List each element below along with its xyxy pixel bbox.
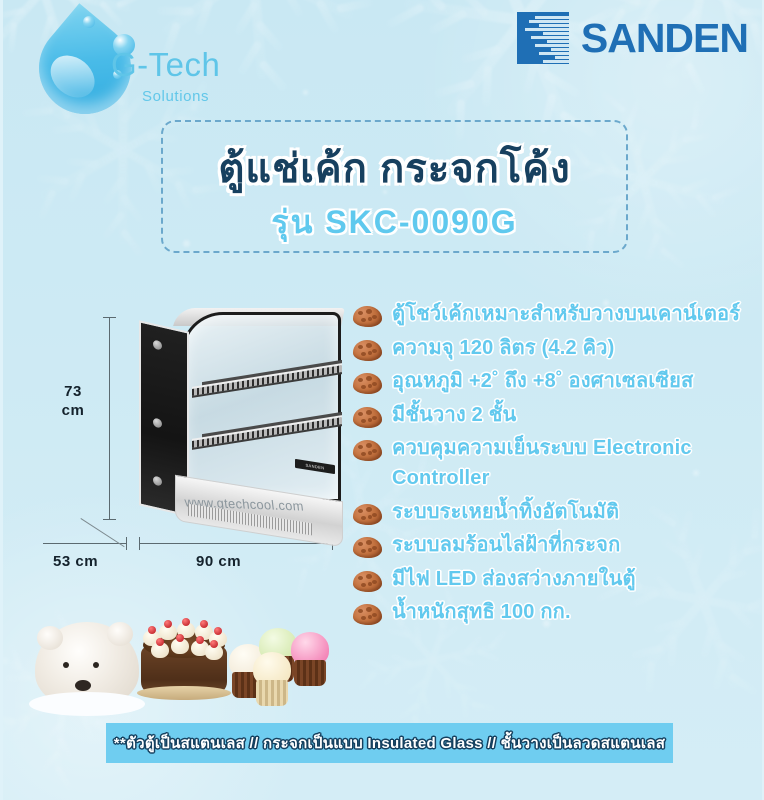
cupcake-wrapper — [294, 660, 326, 686]
depth-dimension-label: 53 cm — [53, 553, 98, 570]
cake-cherry — [176, 634, 184, 642]
depth-dimension-line — [43, 543, 127, 544]
cookie-bullet-icon — [353, 306, 382, 327]
cookie-bullet-icon — [353, 604, 382, 625]
cabinet-curved-glass — [181, 312, 341, 502]
feature-item: อุณหภูมิ +2˚ ถึง +8˚ องศาเซลเซียส — [353, 367, 763, 397]
feature-text: น้ำหนักสุทธิ 100 กก. — [392, 598, 571, 628]
cake-display-cabinet: SANDEN www.gtechcool.com — [139, 312, 341, 526]
cookie-bullet-icon — [353, 340, 382, 361]
feature-item: มีชั้นวาง 2 ชั้น — [353, 401, 763, 431]
height-value: 73 — [49, 382, 97, 401]
cookie-bullet-icon — [353, 537, 382, 558]
cake-cherry — [148, 626, 156, 634]
cake-cherry — [164, 620, 172, 628]
cake-plate — [137, 686, 231, 700]
title-box: ตู้แช่เค้ก กระจกโค้ง รุ่น SKC-0090G — [161, 120, 628, 253]
feature-item: ควบคุมความเย็นระบบ Electronic Controller — [353, 434, 763, 493]
feature-text: มีชั้นวาง 2 ชั้น — [392, 401, 516, 431]
feature-text: ควบคุมความเย็นระบบ Electronic Controller — [392, 434, 763, 493]
feature-item: ระบบระเหยน้ำทิ้งอัตโนมัติ — [353, 498, 763, 528]
width-dimension-line — [139, 543, 333, 544]
sanden-logo[interactable]: SANDEN — [517, 12, 748, 64]
feature-list: ตู้โชว์เค้กเหมาะสำหรับวางบนเคาน์เตอร์ควา… — [353, 300, 763, 632]
bear-eye-right — [93, 662, 99, 668]
cake-cherry — [196, 636, 204, 644]
gtech-logo[interactable]: G-Tech Solutions — [25, 8, 245, 116]
bear-ear-right — [107, 622, 133, 646]
cupcake-pink — [291, 630, 329, 686]
feature-item: ระบบลมร้อนไล่ฝ้าที่กระจก — [353, 531, 763, 561]
feature-text: ระบบระเหยน้ำทิ้งอัตโนมัติ — [392, 498, 619, 528]
cookie-bullet-icon — [353, 504, 382, 525]
bear-ear-left — [37, 626, 63, 650]
product-illustration: 73 cm 90 cm 53 cm SANDEN www.gtechcool.c — [21, 300, 351, 590]
feature-item: ตู้โชว์เค้กเหมาะสำหรับวางบนเคาน์เตอร์ — [353, 300, 763, 330]
cake-cherry — [214, 627, 222, 635]
cabinet-badge-text: SANDEN — [305, 462, 324, 470]
advertisement-page: G-Tech Solutions SANDEN ตู้แช่เค้ก กระจก… — [0, 0, 764, 800]
cupcakes-photo — [229, 626, 347, 704]
side-screw-bottom — [153, 475, 162, 486]
decorative-photos — [29, 608, 349, 718]
cake-cherry — [182, 618, 190, 626]
feature-text: อุณหภูมิ +2˚ ถึง +8˚ องศาเซลเซียส — [392, 367, 693, 397]
cookie-bullet-icon — [353, 440, 382, 461]
height-unit: cm — [49, 401, 97, 420]
sanden-logo-name: SANDEN — [581, 18, 748, 59]
page-title: ตู้แช่เค้ก กระจกโค้ง — [163, 136, 626, 200]
bear-eye-left — [63, 662, 69, 668]
feature-text: ตู้โชว์เค้กเหมาะสำหรับวางบนเคาน์เตอร์ — [392, 300, 740, 330]
cookie-bullet-icon — [353, 373, 382, 394]
feature-item: น้ำหนักสุทธิ 100 กก. — [353, 598, 763, 628]
cake-cherry — [200, 620, 208, 628]
side-screw-middle — [153, 417, 162, 428]
height-dimension-line — [109, 317, 110, 520]
product-model: รุ่น SKC-0090G — [163, 197, 626, 248]
cupcake-wrapper — [256, 680, 288, 706]
side-screw-top — [153, 339, 162, 350]
sanden-stripes-icon — [517, 12, 569, 64]
snow-dust-icon — [303, 90, 308, 95]
width-dimension-label: 90 cm — [196, 553, 241, 570]
cake-cherry — [156, 638, 164, 646]
feature-item: ความจุ 120 ลิตร (4.2 คิว) — [353, 334, 763, 364]
footer-note-text: **ตัวตู้เป็นสแตนเลส // กระจกเป็นแบบ Insu… — [114, 731, 665, 755]
cookie-bullet-icon — [353, 571, 382, 592]
feature-text: ระบบลมร้อนไล่ฝ้าที่กระจก — [392, 531, 620, 561]
height-dimension-label: 73 cm — [49, 382, 97, 420]
feature-text: มีไฟ LED ส่องสว่างภายในตู้ — [392, 565, 636, 595]
gtech-logo-subtitle: Solutions — [142, 88, 209, 105]
gtech-logo-name: G-Tech — [111, 46, 220, 84]
cookie-bullet-icon — [353, 407, 382, 428]
cake-cherry — [210, 640, 218, 648]
cupcake-vanilla — [253, 650, 291, 706]
polar-bear-photo — [35, 622, 139, 708]
footer-note-bar: **ตัวตู้เป็นสแตนเลส // กระจกเป็นแบบ Insu… — [106, 723, 673, 763]
feature-text: ความจุ 120 ลิตร (4.2 คิว) — [392, 334, 614, 364]
chocolate-cake-photo — [141, 616, 227, 694]
bear-nose — [75, 680, 91, 691]
bear-snow-mound — [29, 692, 145, 716]
bubble-icon-small — [83, 16, 95, 28]
feature-item: มีไฟ LED ส่องสว่างภายในตู้ — [353, 565, 763, 595]
